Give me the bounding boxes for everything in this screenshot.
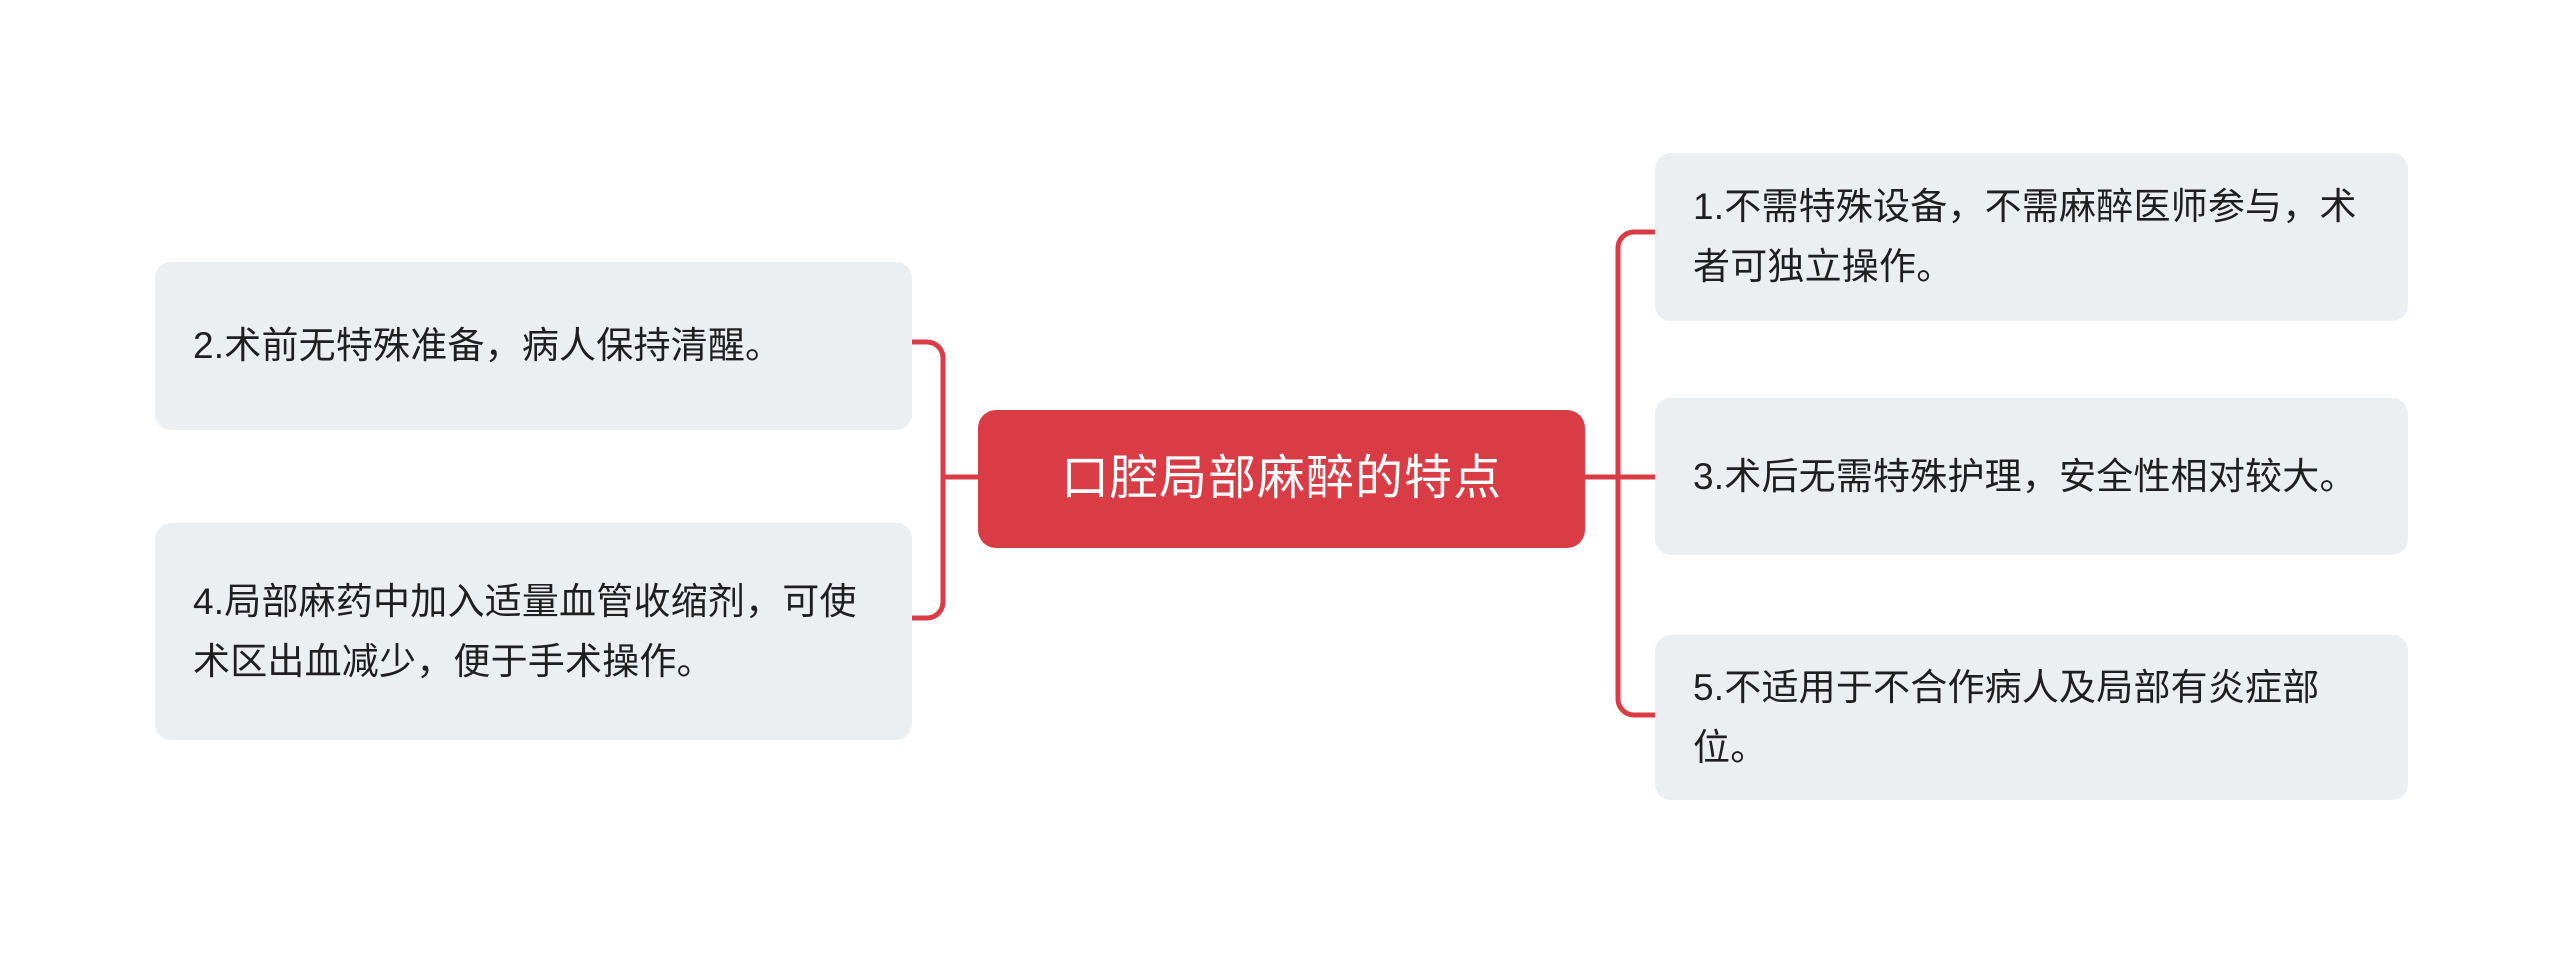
leaf-node-4-label: 4.局部麻药中加入适量血管收缩剂，可使术区出血减少，便于手术操作。 bbox=[193, 572, 878, 692]
root-node-label: 口腔局部麻醉的特点 bbox=[1061, 450, 1502, 508]
leaf-node-3-label: 3.术后无需特殊护理，安全性相对较大。 bbox=[1693, 447, 2374, 507]
leaf-node-1[interactable]: 1.不需特殊设备，不需麻醉医师参与，术者可独立操作。 bbox=[1655, 153, 2408, 321]
leaf-node-3[interactable]: 3.术后无需特殊护理，安全性相对较大。 bbox=[1655, 398, 2408, 555]
connector-branch-left-4 bbox=[912, 602, 943, 618]
connector-branch-right-1 bbox=[1618, 232, 1655, 248]
connector-branch-left-2 bbox=[912, 342, 943, 358]
connector-branch-right-5 bbox=[1618, 699, 1655, 715]
root-node[interactable]: 口腔局部麻醉的特点 bbox=[978, 410, 1585, 548]
leaf-node-2-label: 2.术前无特殊准备，病人保持清醒。 bbox=[193, 316, 878, 376]
leaf-node-5[interactable]: 5.不适用于不合作病人及局部有炎症部位。 bbox=[1655, 635, 2408, 800]
leaf-node-5-label: 5.不适用于不合作病人及局部有炎症部位。 bbox=[1693, 658, 2374, 778]
leaf-node-4[interactable]: 4.局部麻药中加入适量血管收缩剂，可使术区出血减少，便于手术操作。 bbox=[155, 523, 912, 740]
mindmap-canvas: 口腔局部麻醉的特点 2.术前无特殊准备，病人保持清醒。 4.局部麻药中加入适量血… bbox=[0, 0, 2560, 960]
leaf-node-2[interactable]: 2.术前无特殊准备，病人保持清醒。 bbox=[155, 262, 912, 430]
leaf-node-1-label: 1.不需特殊设备，不需麻醉医师参与，术者可独立操作。 bbox=[1693, 177, 2374, 297]
